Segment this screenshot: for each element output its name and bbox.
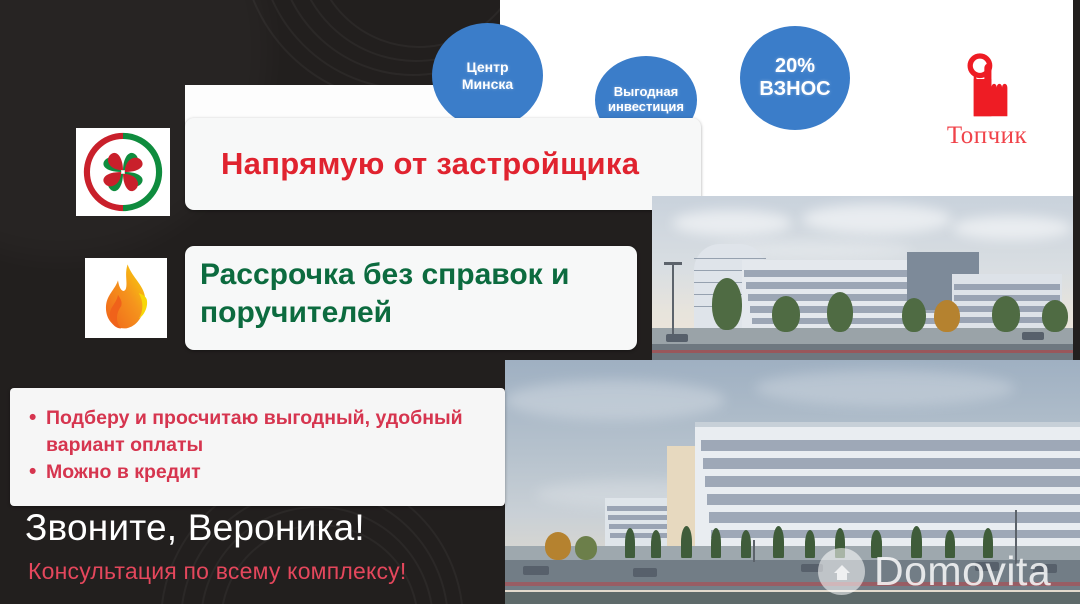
bubble-centre-minsk: ЦентрМинска bbox=[432, 23, 543, 128]
list-item: Можно в кредит bbox=[46, 459, 495, 486]
flame-logo bbox=[85, 258, 167, 338]
subhead-text: Рассрочка без справок и поручителей bbox=[200, 256, 631, 333]
topchik-wordmark: Топчик bbox=[947, 122, 1027, 150]
list-item: Подберу и просчитаю выгодный, удобный ва… bbox=[46, 405, 495, 458]
call-to-action: Звоните, Вероника! Консультация по всему… bbox=[0, 505, 505, 604]
promo-banner: ЦентрМинска Выгоднаяинвестиция 20%ВЗНОС bbox=[0, 0, 1080, 604]
cta-subline: Консультация по всему комплексу! bbox=[28, 558, 406, 585]
building-render-bottom bbox=[505, 360, 1080, 604]
benefits-list: Подберу и просчитаю выгодный, удобный ва… bbox=[46, 405, 495, 487]
bubble-investment-label: Выгоднаяинвестиция bbox=[608, 85, 684, 115]
benefits-panel: Подберу и просчитаю выгодный, удобный ва… bbox=[10, 388, 505, 506]
subhead-panel: Рассрочка без справок и поручителей bbox=[185, 246, 637, 350]
flame-icon bbox=[85, 258, 167, 338]
bubble-down-payment-label: 20%ВЗНОС bbox=[759, 55, 830, 101]
tap-hand-icon bbox=[956, 50, 1018, 124]
topchik-logo: Топчик bbox=[912, 50, 1062, 170]
headline-panel: Напрямую от застройщика bbox=[185, 118, 701, 210]
building-render-top bbox=[652, 196, 1073, 360]
cta-headline: Звоните, Вероника! bbox=[25, 507, 365, 549]
page-title: Напрямую от застройщика bbox=[221, 146, 639, 182]
clover-logo bbox=[76, 128, 170, 216]
clover-icon bbox=[76, 128, 170, 216]
bubble-centre-minsk-label: ЦентрМинска bbox=[462, 59, 513, 91]
bubble-down-payment: 20%ВЗНОС bbox=[740, 26, 850, 130]
